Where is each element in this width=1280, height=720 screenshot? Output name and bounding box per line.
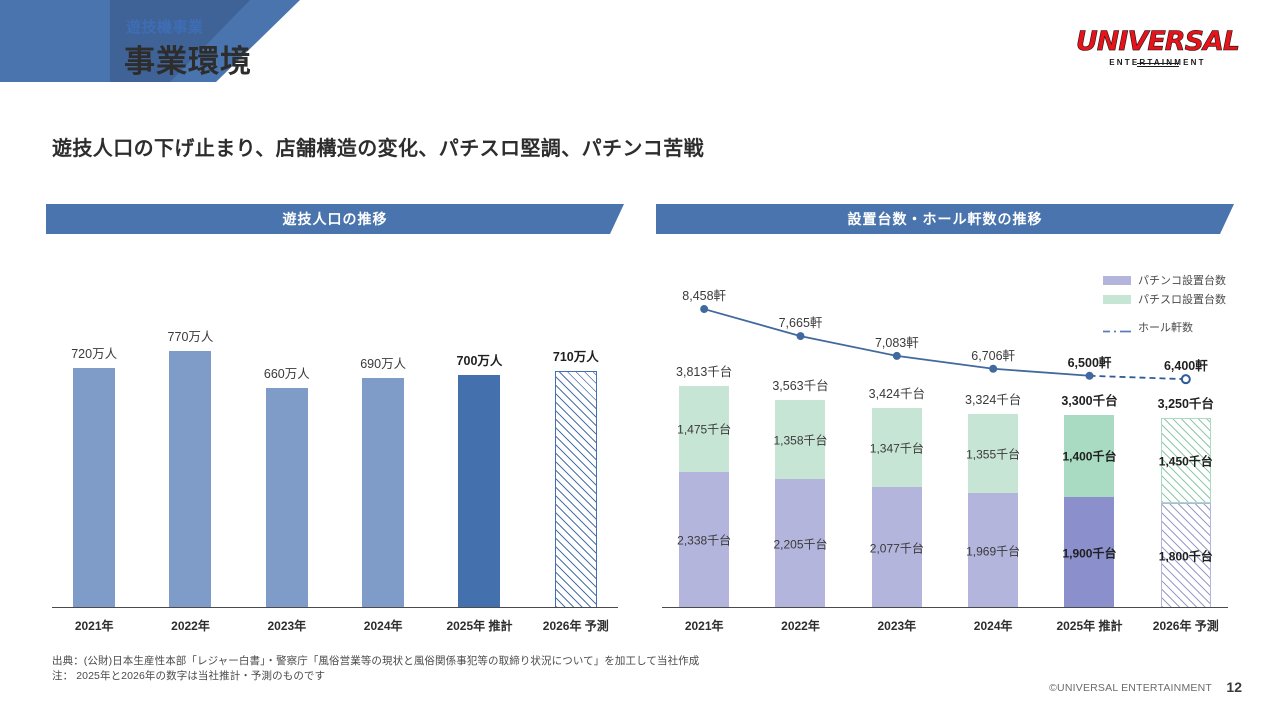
- slide-subtitle: 遊技人口の下げ止まり、店舗構造の変化、パチスロ堅調、パチンコ苦戦: [52, 132, 704, 161]
- pachinko-segment-label: 2,205千台: [773, 535, 827, 552]
- right-bar-column: 1,450千台1,800千台3,250千台: [1138, 363, 1234, 608]
- pachinko-segment-label: 1,969千台: [966, 542, 1020, 559]
- right-chart-axis: [662, 607, 1228, 608]
- right-stacked-bar: 1,347千台2,077千台: [872, 408, 922, 608]
- left-chart-banner: 遊技人口の推移: [46, 204, 624, 234]
- stack-total-label: 3,324千台: [965, 389, 1021, 408]
- left-chart-x-labels: 2021年2022年2023年2024年2025年 推計2026年 予測: [46, 617, 624, 634]
- pachislo-segment: 1,475千台: [679, 386, 729, 472]
- pachinko-segment-label: 1,800千台: [1159, 547, 1213, 564]
- pachinko-segment-label: 2,077千台: [870, 539, 924, 556]
- left-x-axis-label: 2023年: [239, 617, 335, 634]
- left-bar: [73, 368, 115, 608]
- right-stacked-bar: 1,355千台1,969千台: [968, 414, 1018, 608]
- pachinko-segment: 1,969千台: [968, 493, 1018, 608]
- right-stacked-bar: 1,358千台2,205千台: [775, 400, 825, 608]
- right-bar-column: 1,358千台2,205千台3,563千台: [752, 363, 848, 608]
- left-x-axis-label: 2026年 予測: [528, 617, 624, 634]
- left-chart-bars: 720万人770万人660万人690万人700万人710万人: [46, 308, 624, 608]
- left-bar-column: 710万人: [528, 308, 624, 608]
- left-bar-value-label: 690万人: [360, 353, 406, 372]
- panel-playing-population: 遊技人口の推移 720万人770万人660万人690万人700万人710万人 2…: [46, 204, 624, 649]
- stack-total-label: 3,813千台: [676, 361, 732, 380]
- pachinko-segment: 1,900千台: [1064, 497, 1114, 608]
- legend-label-pachinko: パチンコ設置台数: [1138, 272, 1226, 288]
- pachinko-segment: 2,205千台: [775, 479, 825, 608]
- right-x-axis-label: 2026年 予測: [1138, 617, 1234, 634]
- logo-subtitle-row: ENTERTAINMENT: [1075, 58, 1240, 67]
- stack-total-label: 3,424千台: [869, 383, 925, 402]
- right-stacked-bar: 1,450千台1,800千台: [1161, 418, 1211, 608]
- left-bar-column: 660万人: [239, 308, 335, 608]
- left-bar: [169, 351, 211, 608]
- pachislo-segment-label: 1,347千台: [870, 439, 924, 456]
- footnotes: 出典：(公財)日本生産性本部「レジャー白書」・警察庁「風俗営業等の現状と風俗関係…: [52, 654, 699, 684]
- pachislo-segment-label: 1,450千台: [1159, 452, 1213, 469]
- footnote-estimate: 注： 2025年と2026年の数字は当社推計・予測のものです: [52, 669, 699, 684]
- left-bar: [555, 371, 597, 608]
- right-x-axis-label: 2023年: [849, 617, 945, 634]
- pachinko-segment-label: 2,338千台: [677, 532, 731, 549]
- hall-count-value-label: 8,458軒: [682, 285, 726, 304]
- legend-item-pachinko: パチンコ設置台数: [1103, 272, 1226, 288]
- left-bar-value-label: 710万人: [553, 346, 599, 365]
- right-chart-plot: 8,458軒7,665軒7,083軒6,706軒6,500軒6,400軒 パチン…: [656, 234, 1234, 646]
- left-bar-value-label: 770万人: [168, 326, 214, 345]
- right-chart-title: 設置台数・ホール軒数の推移: [848, 209, 1043, 229]
- legend-swatch-pachislo-icon: [1103, 295, 1131, 304]
- pachislo-segment: 1,355千台: [968, 414, 1018, 493]
- hall-count-value-label: 7,083軒: [875, 332, 919, 351]
- right-bar-column: 1,355千台1,969千台3,324千台: [945, 363, 1041, 608]
- stack-total-label: 3,250千台: [1158, 393, 1214, 412]
- right-chart-stacked-bars: 1,475千台2,338千台3,813千台1,358千台2,205千台3,563…: [656, 363, 1234, 608]
- left-bar-value-label: 700万人: [457, 350, 503, 369]
- universal-entertainment-logo: UNIVERSAL ENTERTAINMENT: [1075, 28, 1240, 67]
- pachislo-segment-label: 1,475千台: [677, 421, 731, 438]
- right-chart-x-labels: 2021年2022年2023年2024年2025年 推計2026年 予測: [656, 617, 1234, 634]
- header-accent-shape-inner: [0, 0, 110, 82]
- footnote-source: 出典：(公財)日本生産性本部「レジャー白書」・警察庁「風俗営業等の現状と風俗関係…: [52, 654, 699, 669]
- pachinko-segment-label: 1,900千台: [1062, 544, 1116, 561]
- left-bar: [266, 388, 308, 608]
- left-bar-column: 690万人: [335, 308, 431, 608]
- left-bar: [458, 375, 500, 608]
- right-x-axis-label: 2025年 推計: [1041, 617, 1137, 634]
- footer-copyright: ©UNIVERSAL ENTERTAINMENT: [1049, 682, 1212, 694]
- pachislo-segment-label: 1,355千台: [966, 445, 1020, 462]
- left-chart-plot: 720万人770万人660万人690万人700万人710万人 2021年2022…: [46, 234, 624, 646]
- legend-label-halls: ホール軒数: [1138, 319, 1193, 335]
- page-title: 事業環境: [124, 36, 252, 81]
- pachinko-segment: 2,077千台: [872, 487, 922, 608]
- legend-item-pachislo: パチスロ設置台数: [1103, 291, 1226, 307]
- right-x-axis-label: 2024年: [945, 617, 1041, 634]
- legend-item-halls: ホール軒数: [1103, 319, 1226, 335]
- pachislo-segment-label: 1,400千台: [1062, 448, 1116, 465]
- footer-page-number: 12: [1226, 679, 1242, 695]
- pachislo-segment: 1,358千台: [775, 400, 825, 479]
- logo-rule-right: [1137, 63, 1179, 67]
- right-bar-column: 1,347千台2,077千台3,424千台: [849, 363, 945, 608]
- right-stacked-bar: 1,475千台2,338千台: [679, 386, 729, 608]
- pachinko-segment: 2,338千台: [679, 472, 729, 608]
- logo-wordmark: UNIVERSAL: [1075, 28, 1240, 55]
- hall-count-value-label: 6,706軒: [971, 345, 1015, 364]
- stack-total-label: 3,300千台: [1061, 390, 1117, 409]
- left-chart-title: 遊技人口の推移: [283, 209, 388, 229]
- right-bar-column: 1,475千台2,338千台3,813千台: [656, 363, 752, 608]
- left-x-axis-label: 2024年: [335, 617, 431, 634]
- legend-label-pachislo: パチスロ設置台数: [1138, 291, 1226, 307]
- left-x-axis-label: 2025年 推計: [431, 617, 527, 634]
- hall-count-value-label: 7,665軒: [779, 312, 823, 331]
- right-x-axis-label: 2021年: [656, 617, 752, 634]
- pachislo-segment: 1,400千台: [1064, 415, 1114, 497]
- header-eyebrow: 遊技機事業: [126, 16, 204, 37]
- right-stacked-bar: 1,400千台1,900千台: [1064, 415, 1114, 608]
- right-x-axis-label: 2022年: [752, 617, 848, 634]
- stack-total-label: 3,563千台: [772, 375, 828, 394]
- left-chart-axis: [52, 607, 618, 608]
- left-bar-column: 700万人: [431, 308, 527, 608]
- left-bar-value-label: 660万人: [264, 363, 310, 382]
- right-chart-banner: 設置台数・ホール軒数の推移: [656, 204, 1234, 234]
- slide: 遊技機事業 事業環境 UNIVERSAL ENTERTAINMENT 遊技人口の…: [0, 0, 1280, 720]
- legend-dashdot-line-icon: [1103, 323, 1131, 332]
- left-bar-column: 770万人: [142, 308, 238, 608]
- left-bar-column: 720万人: [46, 308, 142, 608]
- right-bar-column: 1,400千台1,900千台3,300千台: [1041, 363, 1137, 608]
- left-x-axis-label: 2021年: [46, 617, 142, 634]
- right-chart-legend: パチンコ設置台数 パチスロ設置台数 ホール軒数: [1103, 272, 1226, 338]
- pachislo-segment-label: 1,358千台: [773, 431, 827, 448]
- left-bar: [362, 378, 404, 608]
- left-bar-value-label: 720万人: [71, 343, 117, 362]
- pachislo-segment: 1,347千台: [872, 408, 922, 487]
- legend-swatch-pachinko-icon: [1103, 276, 1131, 285]
- panel-units-and-halls: 設置台数・ホール軒数の推移 8,458軒7,665軒7,083軒6,706軒6,…: [656, 204, 1234, 649]
- pachislo-segment: 1,450千台: [1161, 418, 1211, 503]
- pachinko-segment: 1,800千台: [1161, 503, 1211, 608]
- left-x-axis-label: 2022年: [142, 617, 238, 634]
